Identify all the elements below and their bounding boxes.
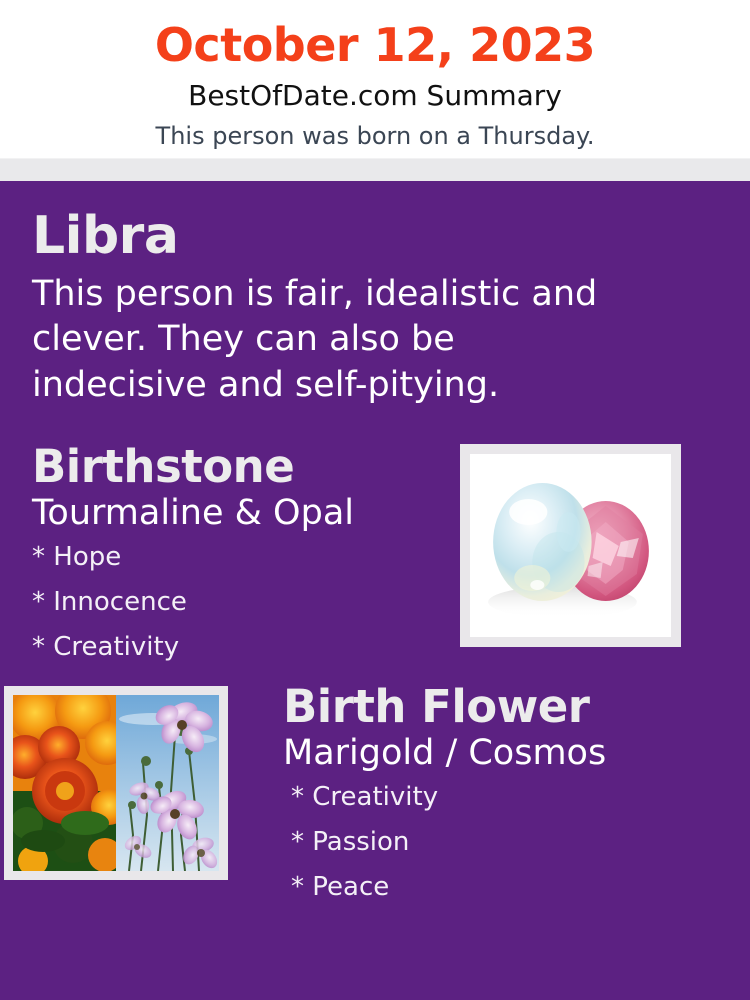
header: October 12, 2023 BestOfDate.com Summary …	[0, 0, 750, 158]
site-name-subtitle: BestOfDate.com Summary	[0, 82, 750, 110]
header-divider	[0, 158, 750, 181]
birth-flower-names: Marigold / Cosmos	[283, 735, 750, 772]
zodiac-sign-heading: Libra	[32, 209, 720, 264]
flowers-image	[13, 695, 219, 871]
page-title-date: October 12, 2023	[0, 22, 750, 68]
list-item: * Passion	[291, 829, 750, 855]
birthstone-section: Birthstone Tourmaline & Opal * Hope * In…	[0, 444, 750, 660]
birth-flower-heading: Birth Flower	[283, 684, 750, 729]
birth-flower-photo-frame	[4, 686, 228, 880]
birth-flower-traits-list: * Creativity * Passion * Peace	[283, 784, 750, 900]
list-item: * Creativity	[291, 784, 750, 810]
birthstone-photo-frame	[460, 444, 681, 647]
zodiac-section: Libra This person is fair, idealistic an…	[0, 181, 750, 408]
zodiac-description: This person is fair, idealistic and clev…	[32, 272, 632, 409]
summary-card: October 12, 2023 BestOfDate.com Summary …	[0, 0, 750, 1000]
main-panel: Libra This person is fair, idealistic an…	[0, 181, 750, 1000]
list-item: * Peace	[291, 874, 750, 900]
day-of-week-line: This person was born on a Thursday.	[0, 124, 750, 148]
gemstones-image	[470, 454, 671, 637]
birth-flower-section: Birth Flower Marigold / Cosmos * Creativ…	[0, 684, 750, 900]
